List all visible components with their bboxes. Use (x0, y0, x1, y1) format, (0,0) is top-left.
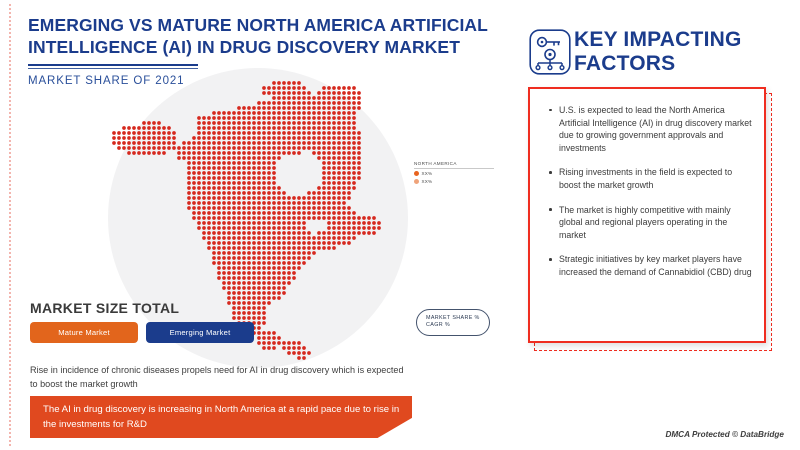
left-edge-dotted-rule (9, 4, 11, 446)
driver-note-text: Rise in incidence of chronic diseases pr… (30, 364, 410, 391)
legend-row: XX% (414, 171, 494, 176)
highlight-banner: The AI in drug discovery is increasing i… (30, 396, 412, 438)
footer-copyright: DMCA Protected © DataBridge (665, 430, 784, 439)
market-share-cagr-badge: MARKET SHARE % CAGR % (416, 309, 490, 336)
segment-emerging-market[interactable]: Emerging Market (146, 322, 254, 343)
legend-dot-orange-icon (414, 171, 419, 176)
map-legend: NORTH AMERICA XX% XX% (414, 161, 494, 184)
legend-row: XX% (414, 179, 494, 184)
list-item: Rising investments in the field is expec… (548, 166, 754, 191)
list-item: The market is highly competitive with ma… (548, 204, 754, 242)
dot-map-svg (112, 72, 412, 362)
market-size-legend: Mature Market Emerging Market (30, 322, 254, 343)
market-size-title: MARKET SIZE TOTAL (30, 300, 179, 316)
infographic-page: EMERGING VS MATURE NORTH AMERICA ARTIFIC… (0, 0, 800, 450)
legend-region-label: NORTH AMERICA (414, 161, 494, 169)
badge-cagr-line: CAGR % (426, 322, 480, 329)
north-america-dot-map (112, 72, 412, 362)
legend-value: XX% (422, 179, 433, 184)
legend-value: XX% (422, 171, 433, 176)
key-network-icon (529, 29, 571, 75)
legend-dot-light-orange-icon (414, 179, 419, 184)
list-item: Strategic initiatives by key market play… (548, 253, 754, 278)
badge-market-share-line: MARKET SHARE % (426, 315, 480, 322)
page-title: EMERGING VS MATURE NORTH AMERICA ARTIFIC… (28, 14, 488, 58)
key-factors-title: KEY IMPACTING FACTORS (574, 28, 789, 76)
segment-mature-market[interactable]: Mature Market (30, 322, 138, 343)
title-divider (28, 64, 198, 69)
key-factors-list: U.S. is expected to lead the North Ameri… (548, 104, 754, 291)
list-item: U.S. is expected to lead the North Ameri… (548, 104, 754, 154)
